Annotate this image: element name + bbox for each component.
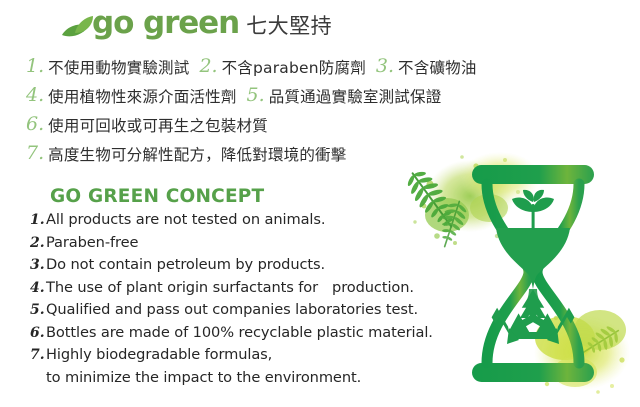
list-item: 品質通過實驗室測試保證 bbox=[269, 85, 442, 107]
list-number: 1. bbox=[30, 212, 46, 228]
list-number: 5. bbox=[30, 302, 46, 318]
list-number: 2. bbox=[30, 235, 46, 251]
list-item: 4. The use of plant origin surfactants f… bbox=[30, 279, 450, 302]
list-number: 7. bbox=[30, 347, 46, 363]
fern-leaf-icon bbox=[575, 321, 625, 364]
sprout-icon bbox=[512, 190, 554, 230]
chinese-commitment-list: 1. 不使用動物實驗測試 2. 不含paraben防腐劑 3. 不含礦物油 4.… bbox=[26, 52, 496, 168]
list-item: 使用可回收或可再生之包裝材質 bbox=[48, 114, 268, 136]
list-number: 3. bbox=[376, 57, 394, 76]
list-item-label: Highly biodegradable formulas, bbox=[46, 346, 272, 363]
list-number: 2. bbox=[199, 57, 217, 76]
list-item-label-tail: production. bbox=[332, 279, 414, 296]
list-item-label-continued: to minimize the impact to the environmen… bbox=[46, 369, 361, 386]
list-number: 5. bbox=[247, 86, 265, 105]
list-item: 2. Paraben-free bbox=[30, 234, 450, 257]
list-number: 6. bbox=[30, 325, 46, 341]
logo-brand-text: go green bbox=[92, 8, 239, 39]
list-item-label: Do not contain petroleum by products. bbox=[46, 256, 325, 273]
list-item-label: All products are not tested on animals. bbox=[46, 211, 325, 228]
list-number: 6. bbox=[26, 115, 44, 134]
paint-splatter-icon bbox=[534, 310, 630, 394]
list-item: 高度生物可分解性配方，降低對環境的衝擊 bbox=[48, 143, 346, 165]
hourglass-icon bbox=[472, 165, 594, 382]
chinese-list-row: 1. 不使用動物實驗測試 2. 不含paraben防腐劑 3. 不含礦物油 bbox=[26, 52, 496, 81]
list-item: 5. Qualified and pass out companies labo… bbox=[30, 301, 450, 324]
logo: go green 七大堅持 bbox=[60, 8, 332, 40]
list-item: 不使用動物實驗測試 bbox=[48, 56, 189, 78]
list-item: 1. All products are not tested on animal… bbox=[30, 211, 450, 234]
page-title: GO GREEN CONCEPT bbox=[50, 186, 264, 207]
list-item-label: Qualified and pass out companies laborat… bbox=[46, 301, 418, 318]
list-number: 1. bbox=[26, 57, 44, 76]
chinese-list-row: 7. 高度生物可分解性配方，降低對環境的衝擊 bbox=[26, 139, 496, 168]
list-item: 使用植物性來源介面活性劑 bbox=[48, 85, 236, 107]
list-item-continuation: to minimize the impact to the environmen… bbox=[30, 369, 450, 392]
hourglass-sand bbox=[496, 228, 570, 307]
list-item: 不含paraben防腐劑 bbox=[222, 56, 366, 78]
recycle-icon-arrows bbox=[492, 296, 575, 344]
list-item: 6. Bottles are made of 100% recyclable p… bbox=[30, 324, 450, 347]
chinese-list-row: 6. 使用可回收或可再生之包裝材質 bbox=[26, 110, 496, 139]
list-item: 3. Do not contain petroleum by products. bbox=[30, 256, 450, 279]
list-number: 3. bbox=[30, 257, 46, 273]
logo-chinese-title: 七大堅持 bbox=[246, 10, 332, 40]
list-number: 4. bbox=[30, 280, 46, 296]
list-item: 不含礦物油 bbox=[398, 56, 477, 78]
list-item-label: Bottles are made of 100% recyclable plas… bbox=[46, 324, 433, 341]
list-item: 7. Highly biodegradable formulas, bbox=[30, 346, 450, 369]
chinese-list-row: 4. 使用植物性來源介面活性劑 5. 品質通過實驗室測試保證 bbox=[26, 81, 496, 110]
list-item-label: The use of plant origin surfactants for bbox=[46, 279, 318, 296]
list-number: 7. bbox=[26, 144, 44, 163]
recycle-icon bbox=[503, 289, 564, 342]
list-number: 4. bbox=[26, 86, 44, 105]
go-green-poster: go green 七大堅持 1. 不使用動物實驗測試 2. 不含paraben防… bbox=[0, 0, 640, 407]
leaf-icon bbox=[60, 13, 94, 43]
english-concept-list: 1. All products are not tested on animal… bbox=[30, 211, 450, 391]
list-item-label: Paraben-free bbox=[46, 234, 138, 251]
